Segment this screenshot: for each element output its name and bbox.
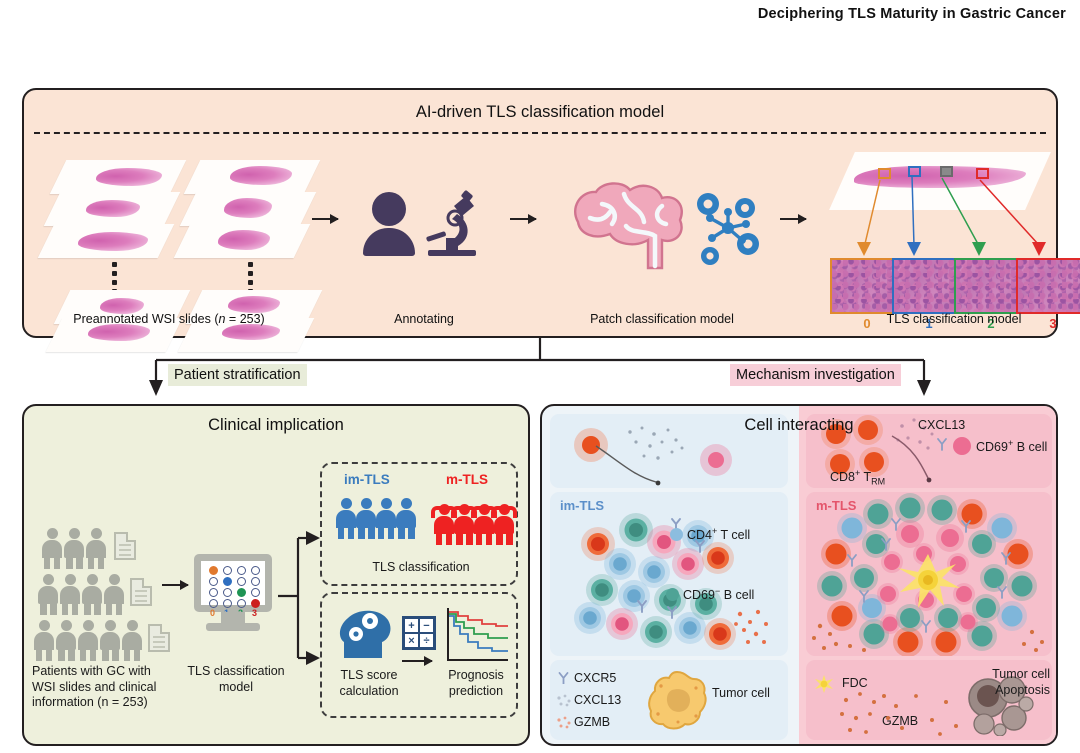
panel-c-title: Cell interacting (542, 416, 1056, 435)
cxcr5-y-icon (558, 672, 569, 684)
connector-lines (0, 338, 1080, 402)
gzmb-dots-icon (556, 716, 572, 730)
cohort-caption: Patients with GC with WSI slides and cli… (32, 664, 182, 711)
tag-patient-stratification: Patient stratification (168, 364, 307, 386)
panel-a-divider (34, 132, 1046, 134)
cd69-pos-b-cell-label: CD69+ B cell (976, 438, 1047, 454)
panel-cell-interacting: Cell interacting im-TLS (540, 404, 1058, 746)
cd4-t-cell-swatch (670, 528, 683, 541)
grid-label-0: 0 (210, 608, 215, 618)
microscope-icon (424, 188, 480, 256)
im-tls-cell-scatter (550, 492, 788, 656)
m-tls-label: m-TLS (446, 472, 488, 487)
legend-cxcl13-left: CXCL13 (574, 693, 621, 707)
annotating-icon (368, 186, 484, 260)
tls-patch-3 (1016, 258, 1080, 314)
m-tls-legend-card: FDC GZMB Tumor cell (806, 660, 1052, 740)
tls-score-caption: TLS score calculation (326, 668, 412, 699)
tls-classification-model-monitor: 0 1 2 3 (194, 554, 272, 632)
tls-classification-caption: TLS classification (322, 560, 520, 576)
tag-mechanism-investigation: Mechanism investigation (730, 364, 901, 386)
arrow-annot-to-patch (510, 218, 536, 220)
stage-label-annotating: Annotating (354, 312, 494, 328)
prognosis-km-chart (444, 606, 510, 668)
tls-classification-card: im-TLS m-TLS TLS classification (320, 462, 518, 586)
prognosis-caption: Prognosis prediction (430, 668, 522, 699)
panel-a-title: AI-driven TLS classification model (24, 103, 1056, 122)
stage-label-wsi: Preannotated WSI slides (n = 253) (44, 312, 294, 328)
cd69-neg-b-cell-label: CD69− B cell (666, 586, 754, 602)
patch-model-icon (562, 178, 762, 270)
cd4-t-cell-label: CD4+ T cell (670, 526, 750, 542)
clinical-record-doc (114, 532, 136, 560)
stage-label-tls-model: TLS classification model (834, 312, 1074, 328)
model-caption: TLS classification model (184, 664, 288, 695)
gzmb-dot-field (836, 690, 966, 738)
im-tls-legend-card: CXCR5 CXCL13 GZMB Tumor cell (550, 660, 788, 740)
fdc-star-icon (814, 674, 834, 694)
km-curve-high (449, 612, 508, 626)
apoptosis-caption: Tumor cell Apoptosis (966, 666, 1050, 699)
gear-cluster-icon (697, 193, 759, 265)
calculator-icon: + − × ÷ (402, 616, 436, 650)
grid-label-3: 3 (252, 608, 257, 618)
clinical-record-doc (148, 624, 170, 652)
running-header: Deciphering TLS Maturity in Gastric Canc… (758, 6, 1066, 22)
model-branch-arrows (276, 518, 320, 678)
arrow-wsi-to-annot (312, 218, 338, 220)
cxcl13-dots-icon (556, 694, 572, 708)
cd69-neg-b-cell-swatch (666, 588, 679, 601)
m-tls-follicle-cluster (806, 492, 1052, 656)
patch-leader-lines (842, 164, 1050, 260)
stage-label-patch-model: Patch classification model (552, 312, 772, 328)
panel-b-title: Clinical implication (24, 416, 528, 435)
legend-gzmb-left: GZMB (574, 715, 610, 729)
prognosis-card: + − × ÷ TLS score calculation Prognosis … (320, 592, 518, 718)
brain-icon (562, 178, 762, 270)
panel-clinical-implication: Clinical implication Patients with GC wi… (22, 404, 530, 746)
arrow-score-to-prognosis (402, 660, 432, 662)
clinical-record-doc (130, 578, 152, 606)
im-tls-main-card: im-TLS (550, 492, 788, 656)
legend-fdc: FDC (842, 676, 868, 690)
arrow-cohort-to-model (162, 584, 188, 586)
legend-tumor-cell-left: Tumor cell (712, 686, 770, 700)
arrow-patch-to-tls (780, 218, 806, 220)
m-tls-main-card: m-TLS (806, 492, 1052, 656)
cd8-trm-label: CD8+ TRM (830, 468, 885, 487)
connector-tree: Patient stratification Mechanism investi… (0, 338, 1080, 402)
tumor-cell-icon (646, 670, 708, 732)
panel-ai-driven-model: AI-driven TLS classification model Prean… (22, 88, 1058, 338)
tls-score-head-icon (336, 606, 396, 660)
im-tls-label: im-TLS (344, 472, 390, 487)
legend-cxcr5: CXCR5 (574, 671, 616, 685)
